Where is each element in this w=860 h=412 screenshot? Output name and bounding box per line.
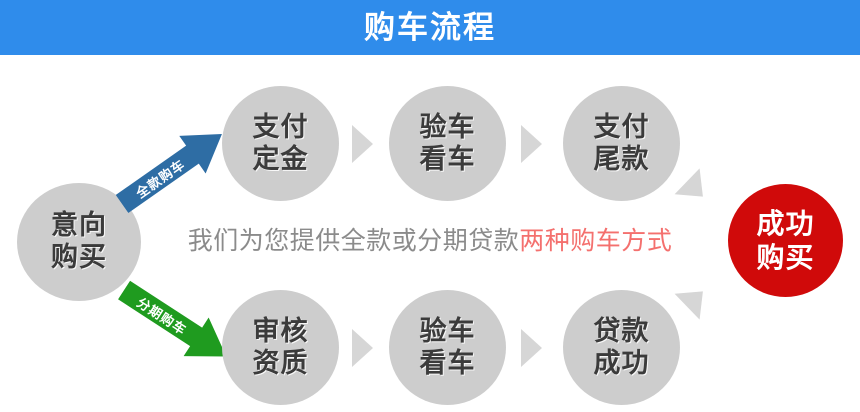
node-pay-deposit-line2: 定金 xyxy=(253,144,309,176)
node-loan-approved[interactable]: 贷款 成功 xyxy=(563,290,680,405)
node-pay-deposit-line1: 支付 xyxy=(253,112,309,144)
node-loan-approved-line1: 贷款 xyxy=(594,316,650,348)
page-title: 购车流程 xyxy=(364,12,496,43)
node-pay-deposit[interactable]: 支付 定金 xyxy=(222,86,339,201)
node-pay-balance[interactable]: 支付 尾款 xyxy=(563,86,680,201)
connector-arrow-right-icon-3 xyxy=(352,329,373,367)
node-loan-approved-line2: 成功 xyxy=(594,348,650,380)
blue-arrow-icon xyxy=(109,115,235,223)
caption-red-text: 两种购车方式 xyxy=(519,227,672,255)
connector-arrow-right-icon-4 xyxy=(521,329,542,367)
flowchart-canvas: 意向 购买 全款购车 分期购车 支付 定金 验车 看车 支付 尾款 审核 资质 … xyxy=(0,55,860,412)
connector-arrow-right-icon-1 xyxy=(352,125,373,163)
node-pay-balance-line2: 尾款 xyxy=(594,144,650,176)
node-pay-balance-line1: 支付 xyxy=(594,112,650,144)
connector-arrow-right-icon-2 xyxy=(521,125,542,163)
node-inspect-car-2-line1: 验车 xyxy=(420,316,476,348)
branch-arrow-installment[interactable]: 分期购车 xyxy=(111,271,238,376)
node-review-qualification-line1: 审核 xyxy=(253,316,309,348)
caption-gray-text: 我们为您提供全款或分期贷款 xyxy=(188,227,520,255)
green-arrow-icon xyxy=(111,271,238,376)
connector-arrow-diagonal-icon-bottom xyxy=(675,278,716,319)
page-header: 购车流程 xyxy=(0,0,860,55)
branch-arrow-full-payment[interactable]: 全款购车 xyxy=(109,115,235,223)
node-inspect-car-1-line2: 看车 xyxy=(420,144,476,176)
node-inspect-car-1[interactable]: 验车 看车 xyxy=(389,86,506,201)
node-inspect-car-2-line2: 看车 xyxy=(420,348,476,380)
node-inspect-car-1-line1: 验车 xyxy=(420,112,476,144)
node-review-qualification[interactable]: 审核 资质 xyxy=(222,290,339,405)
node-inspect-car-2[interactable]: 验车 看车 xyxy=(389,290,506,405)
node-review-qualification-line2: 资质 xyxy=(253,348,309,380)
center-caption: 我们为您提供全款或分期贷款两种购车方式 xyxy=(0,221,860,257)
connector-arrow-diagonal-icon-top xyxy=(675,168,716,209)
